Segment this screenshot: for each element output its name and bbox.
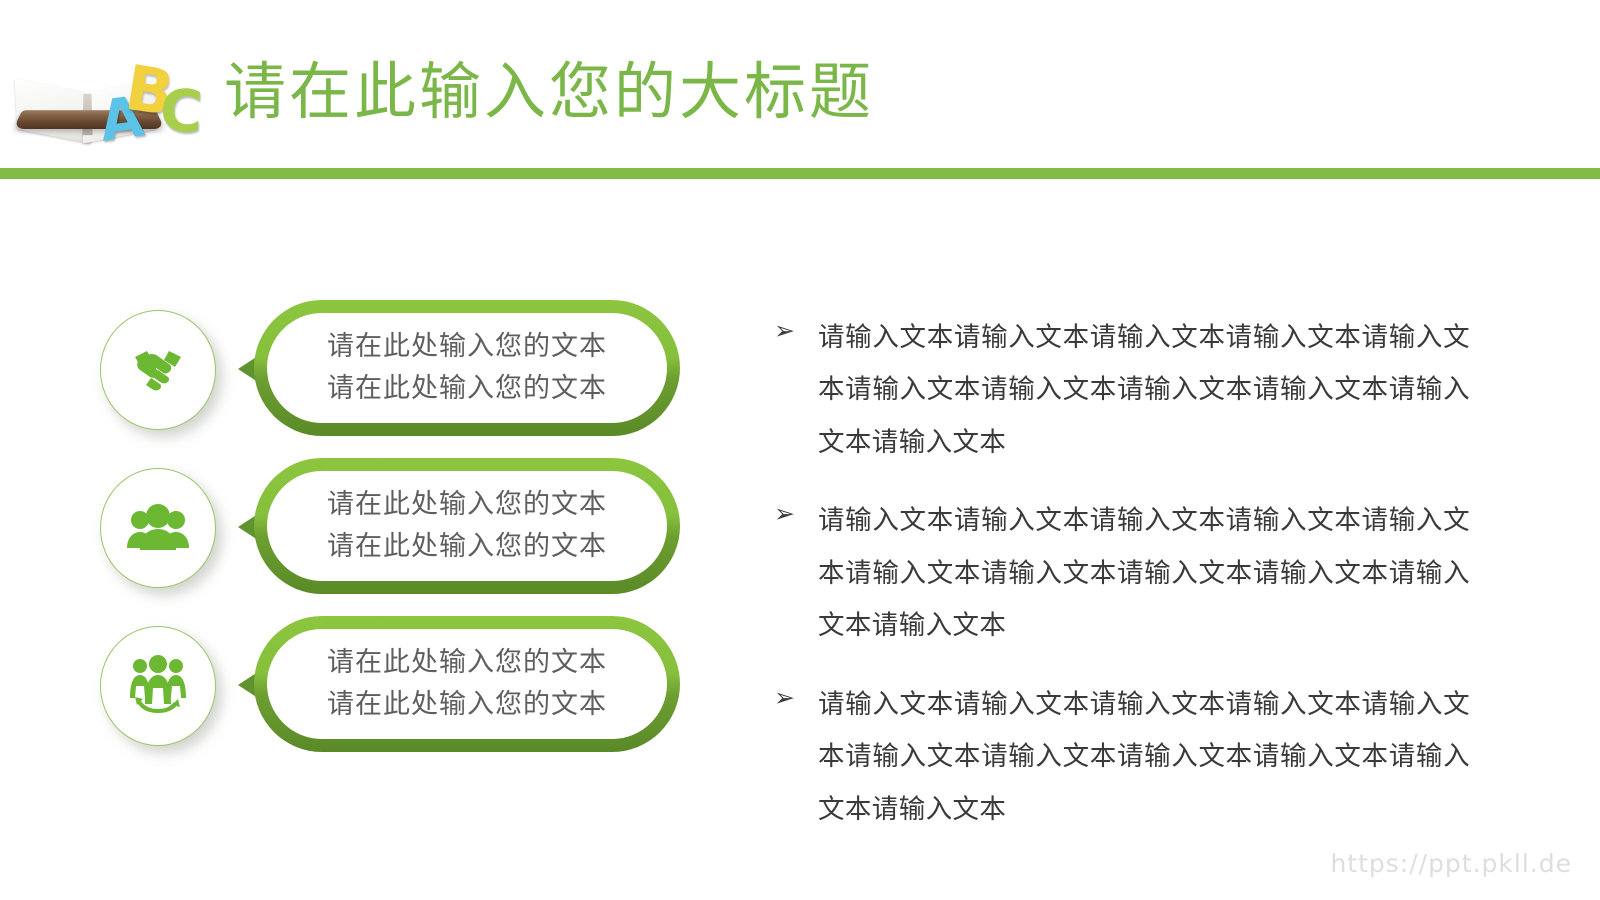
bubble-line: 请在此处输入您的文本 xyxy=(327,326,607,368)
callout-bubble[interactable]: 请在此处输入您的文本 请在此处输入您的文本 xyxy=(238,458,680,598)
bubble-line: 请在此处输入您的文本 xyxy=(327,684,607,726)
bullet-text: 请输入文本请输入文本请输入文本请输入文本请输入文本请输入文本请输入文本请输入文本… xyxy=(818,679,1470,836)
bubble-line: 请在此处输入您的文本 xyxy=(327,368,607,410)
callout-row: 请在此处输入您的文本 请在此处输入您的文本 xyxy=(0,300,740,458)
bubble-body: 请在此处输入您的文本 请在此处输入您的文本 xyxy=(254,616,680,752)
bubble-line: 请在此处输入您的文本 xyxy=(327,484,607,526)
bubble-line: 请在此处输入您的文本 xyxy=(327,642,607,684)
abc-book-logo: A B C xyxy=(8,40,213,145)
list-item: ➢ 请输入文本请输入文本请输入文本请输入文本请输入文本请输入文本请输入文本请输入… xyxy=(770,679,1470,836)
bubble-body: 请在此处输入您的文本 请在此处输入您的文本 xyxy=(254,458,680,594)
users-group-icon[interactable] xyxy=(100,468,216,588)
callout-row: 请在此处输入您的文本 请在此处输入您的文本 xyxy=(0,458,740,616)
team-cycle-icon[interactable] xyxy=(100,626,216,746)
arrow-bullet-icon: ➢ xyxy=(774,498,795,531)
footer-url: https://ppt.pkll.de xyxy=(1330,849,1572,878)
bubble-line: 请在此处输入您的文本 xyxy=(327,526,607,568)
bullet-text: 请输入文本请输入文本请输入文本请输入文本请输入文本请输入文本请输入文本请输入文本… xyxy=(818,312,1470,469)
callout-list: 请在此处输入您的文本 请在此处输入您的文本 请在此处输入您的文本 xyxy=(0,300,740,774)
bubble-body: 请在此处输入您的文本 请在此处输入您的文本 xyxy=(254,300,680,436)
callout-bubble[interactable]: 请在此处输入您的文本 请在此处输入您的文本 xyxy=(238,300,680,440)
list-item: ➢ 请输入文本请输入文本请输入文本请输入文本请输入文本请输入文本请输入文本请输入… xyxy=(770,495,1470,652)
list-item: ➢ 请输入文本请输入文本请输入文本请输入文本请输入文本请输入文本请输入文本请输入… xyxy=(770,312,1470,469)
letter-c-icon: C xyxy=(159,81,205,141)
arrow-bullet-icon: ➢ xyxy=(774,682,795,715)
callout-bubble[interactable]: 请在此处输入您的文本 请在此处输入您的文本 xyxy=(238,616,680,756)
page-title: 请在此输入您的大标题 xyxy=(224,56,874,127)
handshake-icon[interactable] xyxy=(100,310,216,430)
header-divider xyxy=(0,168,1600,179)
callout-row: 请在此处输入您的文本 请在此处输入您的文本 xyxy=(0,616,740,774)
bullet-list: ➢ 请输入文本请输入文本请输入文本请输入文本请输入文本请输入文本请输入文本请输入… xyxy=(770,312,1470,862)
slide-header: A B C 请在此输入您的大标题 xyxy=(0,0,1600,176)
arrow-bullet-icon: ➢ xyxy=(774,315,795,348)
bullet-text: 请输入文本请输入文本请输入文本请输入文本请输入文本请输入文本请输入文本请输入文本… xyxy=(818,495,1470,652)
